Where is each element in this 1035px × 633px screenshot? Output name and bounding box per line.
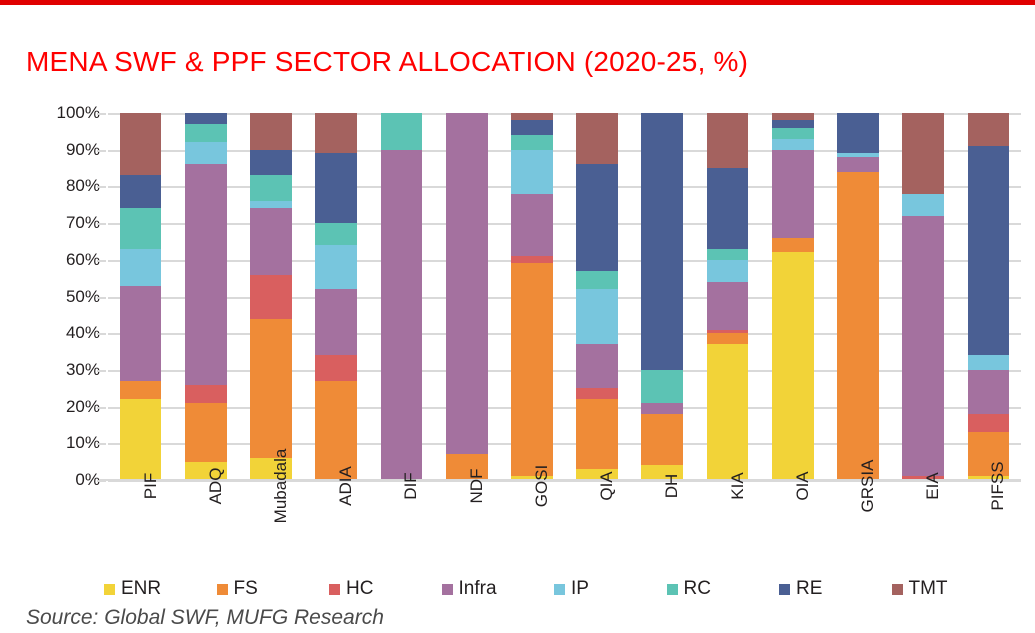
legend-item-tmt[interactable]: TMT: [892, 578, 1005, 600]
y-tick-mark: [97, 113, 106, 115]
bar-segment-ip[interactable]: [772, 139, 814, 150]
bar-segment-hc[interactable]: [576, 388, 618, 399]
bar-segment-enr[interactable]: [707, 344, 749, 480]
bar-segment-infra[interactable]: [641, 403, 683, 414]
bar-slot: [434, 113, 499, 480]
stacked-bar[interactable]: [120, 113, 162, 480]
x-tick-label: NDF: [467, 469, 487, 504]
y-tick-mark: [97, 223, 106, 225]
legend-swatch-icon: [217, 584, 228, 595]
legend: ENRFSHCInfraIPRCRETMT: [104, 578, 1004, 600]
bar-segment-hc[interactable]: [315, 355, 357, 381]
bar-slot: [891, 113, 956, 480]
x-tick-slot: PIF: [108, 482, 173, 567]
y-tick-label: 30%: [66, 360, 100, 380]
bar-slot: [825, 113, 890, 480]
x-tick-slot: Mubadala: [238, 482, 303, 567]
bar-segment-re[interactable]: [511, 120, 553, 135]
legend-label: HC: [346, 578, 373, 600]
bar-segment-re[interactable]: [250, 150, 292, 176]
bar-segment-ip[interactable]: [576, 289, 618, 344]
bar-segment-infra[interactable]: [511, 194, 553, 256]
chart-container: 0%10%20%30%40%50%60%70%80%90%100% PIFADQ…: [0, 0, 1035, 633]
bar-segment-ip[interactable]: [902, 194, 944, 216]
stacked-bar[interactable]: [641, 113, 683, 480]
bar-segment-re[interactable]: [576, 164, 618, 270]
x-tick-slot: DH: [630, 482, 695, 567]
bars-layer: [108, 113, 1021, 480]
x-tick-label: KIA: [728, 472, 748, 499]
legend-label: FS: [234, 578, 258, 600]
x-tick-slot: QIA: [565, 482, 630, 567]
legend-label: RE: [796, 578, 822, 600]
bar-segment-re[interactable]: [315, 153, 357, 223]
legend-item-ip[interactable]: IP: [554, 578, 667, 600]
bar-segment-rc[interactable]: [641, 370, 683, 403]
bar-slot: [173, 113, 238, 480]
bar-segment-tmt[interactable]: [772, 113, 814, 120]
legend-label: RC: [684, 578, 711, 600]
x-axis-line: [99, 479, 1021, 481]
stacked-bar[interactable]: [446, 113, 488, 480]
y-tick-mark: [97, 443, 106, 445]
x-tick-slot: EIA: [891, 482, 956, 567]
bar-segment-tmt[interactable]: [576, 113, 618, 164]
legend-item-infra[interactable]: Infra: [442, 578, 555, 600]
bar-segment-fs[interactable]: [250, 319, 292, 458]
bar-segment-rc[interactable]: [511, 135, 553, 150]
x-tick-label: GRSIA: [858, 460, 878, 513]
bar-segment-ip[interactable]: [185, 142, 227, 164]
bar-segment-fs[interactable]: [576, 399, 618, 469]
bar-segment-hc[interactable]: [250, 275, 292, 319]
x-tick-label: EIA: [923, 472, 943, 499]
y-tick-label: 90%: [66, 140, 100, 160]
legend-swatch-icon: [554, 584, 565, 595]
legend-swatch-icon: [667, 584, 678, 595]
bar-segment-fs[interactable]: [511, 263, 553, 476]
x-tick-label: DIF: [401, 472, 421, 499]
bar-segment-infra[interactable]: [381, 150, 423, 480]
stacked-bar[interactable]: [315, 113, 357, 480]
bar-segment-re[interactable]: [641, 113, 683, 370]
stacked-bar[interactable]: [707, 113, 749, 480]
bar-segment-hc[interactable]: [185, 385, 227, 403]
bar-segment-tmt[interactable]: [511, 113, 553, 120]
bar-segment-re[interactable]: [968, 146, 1010, 355]
legend-item-fs[interactable]: FS: [217, 578, 330, 600]
bar-slot: [695, 113, 760, 480]
x-tick-slot: DIF: [369, 482, 434, 567]
x-tick-slot: OIA: [760, 482, 825, 567]
y-tick-label: 10%: [66, 433, 100, 453]
x-tick-slot: GOSI: [499, 482, 564, 567]
y-tick-label: 60%: [66, 250, 100, 270]
x-tick-slot: PIFSS: [956, 482, 1021, 567]
bar-segment-tmt[interactable]: [120, 113, 162, 175]
bar-segment-re[interactable]: [120, 175, 162, 208]
bar-segment-enr[interactable]: [772, 252, 814, 480]
source-note: Source: Global SWF, MUFG Research: [26, 606, 384, 630]
bar-segment-ip[interactable]: [511, 150, 553, 194]
bar-segment-re[interactable]: [707, 168, 749, 249]
bar-segment-fs[interactable]: [772, 238, 814, 253]
stacked-bar[interactable]: [576, 113, 618, 480]
x-tick-slot: ADQ: [173, 482, 238, 567]
bar-segment-tmt[interactable]: [250, 113, 292, 150]
bar-segment-fs[interactable]: [185, 403, 227, 462]
bar-segment-tmt[interactable]: [315, 113, 357, 153]
legend-swatch-icon: [104, 584, 115, 595]
bar-segment-infra[interactable]: [772, 150, 814, 238]
bar-slot: [956, 113, 1021, 480]
bar-segment-ip[interactable]: [707, 260, 749, 282]
legend-label: TMT: [909, 578, 948, 600]
y-tick-mark: [97, 407, 106, 409]
stacked-bar[interactable]: [381, 113, 423, 480]
legend-item-enr[interactable]: ENR: [104, 578, 217, 600]
legend-item-re[interactable]: RE: [779, 578, 892, 600]
bar-slot: [304, 113, 369, 480]
y-tick-label: 100%: [57, 103, 100, 123]
bar-segment-fs[interactable]: [837, 172, 879, 480]
x-tick-slot: NDF: [434, 482, 499, 567]
legend-swatch-icon: [892, 584, 903, 595]
y-axis: 0%10%20%30%40%50%60%70%80%90%100%: [32, 105, 100, 487]
bar-segment-fs[interactable]: [707, 333, 749, 344]
stacked-bar[interactable]: [511, 113, 553, 480]
y-tick-label: 50%: [66, 287, 100, 307]
bar-slot: [630, 113, 695, 480]
x-tick-label: PIF: [141, 473, 161, 499]
bar-segment-fs[interactable]: [641, 414, 683, 465]
y-tick-mark: [97, 370, 106, 372]
y-tick-mark: [97, 297, 106, 299]
legend-item-hc[interactable]: HC: [329, 578, 442, 600]
x-tick-label: Mubadala: [271, 449, 291, 524]
x-tick-slot: KIA: [695, 482, 760, 567]
bar-slot: [499, 113, 564, 480]
stacked-bar[interactable]: [902, 113, 944, 480]
x-tick-label: ADIA: [336, 466, 356, 506]
stacked-bar[interactable]: [772, 113, 814, 480]
x-tick-label: PIFSS: [988, 461, 1008, 510]
bar-segment-infra[interactable]: [120, 286, 162, 381]
y-tick-mark: [97, 186, 106, 188]
bar-slot: [238, 113, 303, 480]
bar-segment-ip[interactable]: [315, 245, 357, 289]
stacked-bar[interactable]: [968, 113, 1010, 480]
x-tick-label: GOSI: [532, 465, 552, 508]
x-axis: PIFADQMubadalaADIADIFNDFGOSIQIADHKIAOIAG…: [108, 482, 1021, 567]
bar-segment-infra[interactable]: [250, 208, 292, 274]
bar-segment-hc[interactable]: [968, 414, 1010, 432]
x-tick-label: DH: [662, 474, 682, 499]
bar-segment-infra[interactable]: [837, 157, 879, 172]
bar-segment-tmt[interactable]: [707, 113, 749, 168]
legend-swatch-icon: [329, 584, 340, 595]
x-tick-label: QIA: [597, 471, 617, 500]
bar-segment-ip[interactable]: [968, 355, 1010, 370]
bar-slot: [565, 113, 630, 480]
y-tick-mark: [97, 333, 106, 335]
bar-segment-rc[interactable]: [576, 271, 618, 289]
bar-segment-infra[interactable]: [446, 113, 488, 454]
bar-segment-rc[interactable]: [250, 175, 292, 201]
bar-segment-hc[interactable]: [511, 256, 553, 263]
bar-segment-rc[interactable]: [707, 249, 749, 260]
bar-segment-rc[interactable]: [772, 128, 814, 139]
bar-segment-re[interactable]: [772, 120, 814, 127]
legend-swatch-icon: [442, 584, 453, 595]
y-tick-label: 70%: [66, 213, 100, 233]
bar-segment-infra[interactable]: [315, 289, 357, 355]
x-tick-slot: ADIA: [304, 482, 369, 567]
legend-swatch-icon: [779, 584, 790, 595]
bar-segment-rc[interactable]: [315, 223, 357, 245]
stacked-bar[interactable]: [185, 113, 227, 480]
bar-segment-ip[interactable]: [120, 249, 162, 286]
x-tick-label: ADQ: [206, 468, 226, 505]
bar-segment-rc[interactable]: [120, 208, 162, 248]
bar-segment-rc[interactable]: [381, 113, 423, 150]
bar-slot: [108, 113, 173, 480]
bar-segment-infra[interactable]: [902, 216, 944, 477]
legend-label: ENR: [121, 578, 161, 600]
bar-segment-tmt[interactable]: [968, 113, 1010, 146]
y-tick-label: 20%: [66, 397, 100, 417]
legend-item-rc[interactable]: RC: [667, 578, 780, 600]
legend-label: Infra: [459, 578, 497, 600]
y-tick-mark: [97, 260, 106, 262]
bar-segment-fs[interactable]: [120, 381, 162, 399]
stacked-bar[interactable]: [837, 113, 879, 480]
bar-segment-enr[interactable]: [120, 399, 162, 480]
bar-segment-rc[interactable]: [185, 124, 227, 142]
bar-segment-tmt[interactable]: [902, 113, 944, 194]
bar-segment-infra[interactable]: [968, 370, 1010, 414]
x-tick-label: OIA: [793, 471, 813, 500]
y-tick-label: 40%: [66, 323, 100, 343]
legend-label: IP: [571, 578, 589, 600]
bar-slot: [760, 113, 825, 480]
x-tick-slot: GRSIA: [825, 482, 890, 567]
bar-segment-infra[interactable]: [707, 282, 749, 330]
stacked-bar[interactable]: [250, 113, 292, 480]
y-tick-mark: [97, 150, 106, 152]
bar-segment-re[interactable]: [837, 113, 879, 153]
bar-segment-infra[interactable]: [185, 164, 227, 384]
bar-segment-ip[interactable]: [250, 201, 292, 208]
bar-slot: [369, 113, 434, 480]
bar-segment-re[interactable]: [185, 113, 227, 124]
bar-segment-infra[interactable]: [576, 344, 618, 388]
y-tick-label: 80%: [66, 176, 100, 196]
